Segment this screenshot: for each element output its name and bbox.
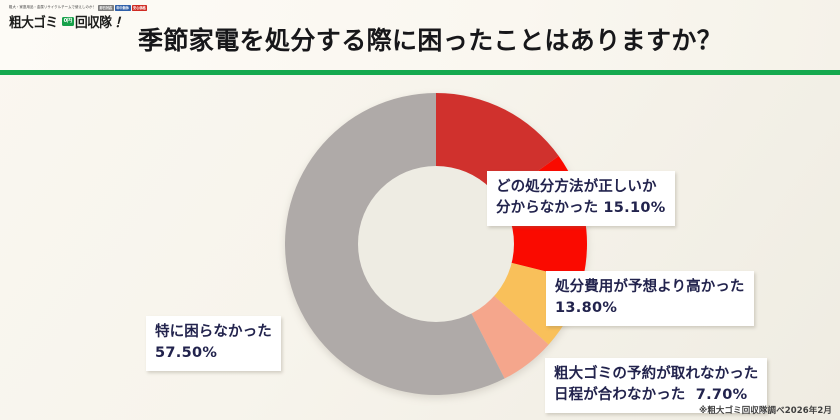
logo-wordmark: 粗大ゴミ 0円 回収隊 ！	[9, 11, 139, 31]
infographic-page: 粗大・家庭用品・金属リサイクルチームで使えしのか！ 粗大ゴミ 0円 回収隊 ！ …	[0, 0, 840, 420]
logo-chip-row: 即日対応 年中無休 安心価格	[98, 5, 147, 11]
logo-chip-2: 安心価格	[132, 5, 148, 11]
donut-chart	[285, 93, 587, 395]
logo-word-sodaigomi: 粗大ゴミ	[9, 11, 58, 31]
callout-label-0: どの処分方法が正しいか 分からなかった 15.10%	[487, 171, 675, 226]
logo-chip-0: 即日対応	[98, 5, 114, 11]
logo-price-badge: 0円	[62, 17, 73, 26]
logo-word-kaishutai: 回収隊	[75, 11, 111, 31]
callout-2-line2: 日程が合わなかった 7.70%	[554, 385, 758, 406]
callout-1-value: 13.80%	[555, 298, 745, 319]
callout-4-value: 57.50%	[155, 343, 272, 364]
callout-2-value: 7.70%	[696, 387, 748, 403]
source-footnote: ※粗大ゴミ回収隊調べ2026年2月	[699, 404, 832, 416]
callout-0-line2: 分からなかった 15.10%	[496, 198, 666, 219]
callout-0-text2: 分からなかった	[496, 200, 598, 216]
callout-label-4: 特に困らなかった 57.50%	[146, 316, 281, 371]
callout-1-line1: 処分費用が予想より高かった	[555, 277, 745, 298]
logo-chip-1: 年中無休	[115, 5, 131, 11]
logo-exclamation: ！	[114, 11, 128, 31]
page-title: 季節家電を処分する際に困ったことはありますか？	[138, 21, 722, 57]
callout-label-1: 処分費用が予想より高かった 13.80%	[546, 271, 754, 326]
chart-area: どの処分方法が正しいか 分からなかった 15.10% 処分費用が予想より高かった…	[0, 75, 840, 420]
callout-0-line1: どの処分方法が正しいか	[496, 177, 666, 198]
callout-4-line1: 特に困らなかった	[155, 322, 272, 343]
donut-chart-svg	[285, 93, 587, 395]
callout-2-text2: 日程が合わなかった	[554, 387, 685, 403]
page-header: 粗大・家庭用品・金属リサイクルチームで使えしのか！ 粗大ゴミ 0円 回収隊 ！ …	[0, 0, 840, 70]
callout-2-line1: 粗大ゴミの予約が取れなかった	[554, 364, 758, 385]
callout-0-value: 15.10%	[603, 200, 665, 216]
